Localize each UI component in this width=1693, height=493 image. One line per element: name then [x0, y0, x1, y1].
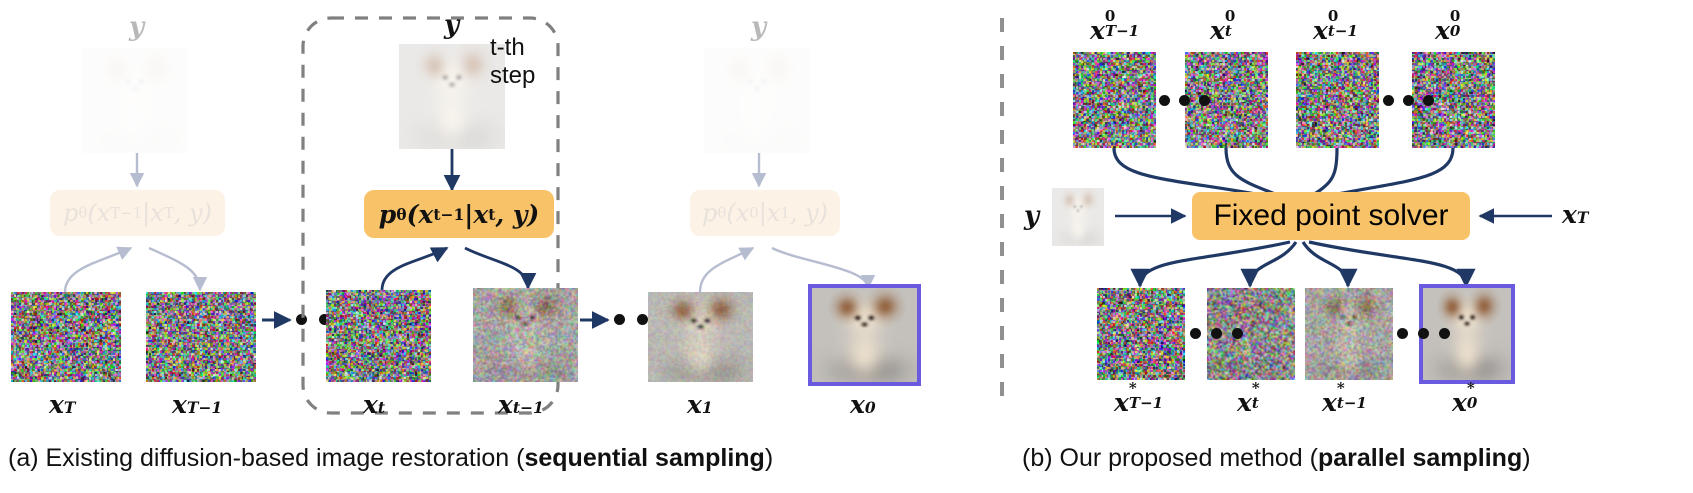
arrow-p-1-to-x0: [772, 248, 868, 288]
label-x0-T-1: x0T−1T−1: [1090, 18, 1139, 43]
arrow-x1-to-p-1: [700, 248, 753, 292]
cond-image-y-1: [704, 48, 810, 153]
fixed-point-solver-box[interactable]: Fixed point solver: [1192, 192, 1470, 240]
tile-label-x0: x0: [850, 392, 876, 417]
tile-xT-1: [146, 292, 256, 382]
figure-root: y pθ(xT−1|xT, y) xT xT−1 y t-th step pθ(…: [0, 0, 1693, 493]
cond-label-y-T: y: [129, 14, 144, 40]
solver-input-y-image: [1052, 188, 1104, 246]
caption-panel-b: (b) Our proposed method (parallel sampli…: [1022, 444, 1531, 473]
tile-label-xT-1: xT−1: [172, 392, 222, 417]
step-note-line1: t-th: [490, 34, 525, 62]
tile-xt-1: [473, 288, 578, 382]
label-xstar-0: x*00: [1452, 390, 1477, 415]
tile-xT: [11, 292, 121, 382]
arrows-solver-to-bottom: [1140, 242, 1466, 286]
solver-input-y-label: y: [1024, 203, 1039, 229]
ellipsis-bottom-2: [1397, 328, 1450, 339]
solver-input-xT-label: xT: [1562, 202, 1588, 227]
caption-b-plain: (b) Our proposed method (: [1022, 444, 1318, 472]
tile-x1: [648, 292, 753, 382]
caption-a-close: ): [765, 444, 773, 472]
formula-pill-1: pθ(x0|x1, y): [690, 190, 840, 236]
arrow-p-t-to-xt1: [465, 248, 528, 288]
arrow-xt-to-p-t: [382, 248, 447, 290]
cond-label-y-1: y: [751, 14, 766, 40]
formula-pill-T: pθ(xT−1|xT, y): [50, 190, 225, 236]
label-xstar-t: x*tt: [1237, 390, 1259, 415]
label-xstar-T-1: x*T−1T−1: [1114, 390, 1163, 415]
label-xstar-t-1: x*t−1t−1: [1322, 390, 1367, 415]
cond-image-y-T: [82, 48, 188, 153]
label-x0-t-1: x0t−1t−1: [1313, 18, 1358, 43]
arrow-xT-to-p-T: [65, 248, 131, 292]
tile-top-3: [1296, 52, 1379, 148]
tile-label-xt-1: xt−1: [498, 392, 544, 417]
caption-b-close: ): [1522, 444, 1530, 472]
label-x0-0: x000: [1435, 18, 1460, 43]
caption-a-bold: sequential sampling: [524, 444, 764, 472]
cond-label-y-t: y: [444, 12, 459, 38]
tile-bot-1: [1097, 288, 1185, 380]
arrow-p-T-to-xT1: [149, 248, 200, 290]
ellipsis-top-2: [1383, 95, 1434, 106]
label-x0-t: x0tt: [1210, 18, 1232, 43]
tile-x0-result: [812, 288, 917, 382]
caption-a-plain: (a) Existing diffusion-based image resto…: [8, 444, 524, 472]
tile-top-1: [1073, 52, 1156, 148]
tile-label-xT: xT: [49, 392, 75, 417]
caption-b-bold: parallel sampling: [1318, 444, 1522, 472]
tile-xt: [326, 290, 431, 382]
tile-bot-3: [1305, 288, 1393, 380]
tile-label-xt: xt: [363, 392, 385, 417]
ellipsis-top-1: [1159, 95, 1210, 106]
ellipsis-bottom-1: [1190, 328, 1243, 339]
tile-label-x1: x1: [687, 392, 713, 417]
formula-pill-t: pθ(xt−1|xt, y): [364, 190, 554, 238]
caption-panel-a: (a) Existing diffusion-based image resto…: [8, 444, 773, 473]
step-note-line2: step: [490, 62, 535, 90]
